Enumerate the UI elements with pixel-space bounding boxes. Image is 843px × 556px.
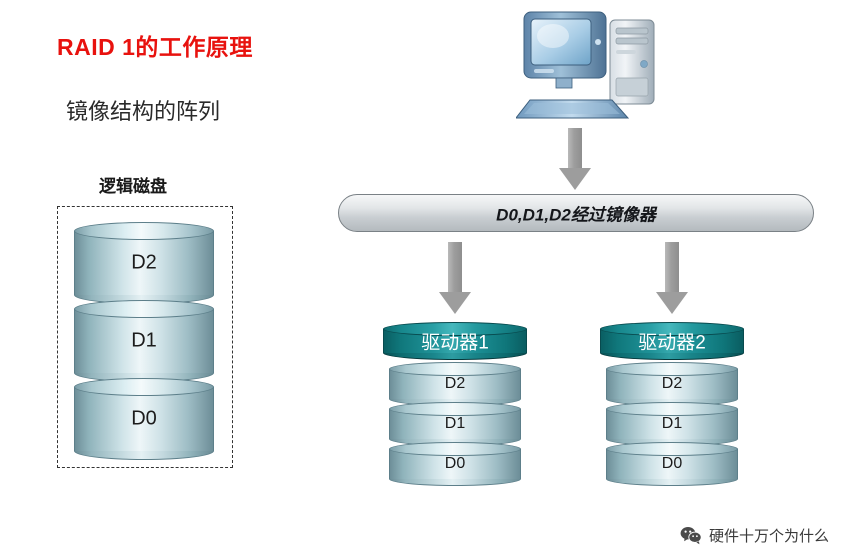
logical-disk-d0: D0 xyxy=(74,378,214,460)
drive2-block-d1-label: D1 xyxy=(606,415,738,433)
drive1-header: 驱动器1 xyxy=(383,322,527,360)
arrow-head xyxy=(439,292,471,314)
cylinder-top xyxy=(74,300,214,318)
drive2-block-d0-label: D0 xyxy=(606,455,738,473)
page-title: RAID 1的工作原理 xyxy=(57,28,253,62)
footer-watermark: 硬件十万个为什么 xyxy=(680,525,829,546)
drive2-block-d1: D1 xyxy=(606,402,738,446)
arrow-head xyxy=(559,168,591,190)
arrow-mirror-to-drive2 xyxy=(655,242,689,314)
logical-disk-d2-label: D2 xyxy=(74,252,214,275)
arrow-shaft xyxy=(448,242,462,294)
logical-disk-d1-label: D1 xyxy=(74,330,214,353)
cylinder-top xyxy=(74,222,214,240)
footer-watermark-text: 硬件十万个为什么 xyxy=(709,525,829,546)
drive1-block-d2: D2 xyxy=(389,362,521,406)
arrow-shaft xyxy=(665,242,679,294)
drive2-header-label: 驱动器2 xyxy=(600,328,744,355)
drive2-block-d0: D0 xyxy=(606,442,738,486)
cylinder-top xyxy=(389,362,521,376)
cylinder-top xyxy=(606,442,738,456)
mirror-engine-label: D0,D1,D2经过镜像器 xyxy=(339,201,813,226)
arrow-shaft xyxy=(568,128,582,170)
drive2-block-d2-label: D2 xyxy=(606,375,738,393)
arrow-mirror-to-drive1 xyxy=(438,242,472,314)
logical-disk-d1: D1 xyxy=(74,300,214,382)
slide-canvas: RAID 1的工作原理 镜像结构的阵列 逻辑磁盘 D2 D1 D0 xyxy=(0,0,843,556)
drive1-block-d0-label: D0 xyxy=(389,455,521,473)
logical-disk-label: 逻辑磁盘 xyxy=(99,172,167,197)
wechat-icon xyxy=(680,526,702,545)
logical-disk-d2: D2 xyxy=(74,222,214,304)
page-subtitle: 镜像结构的阵列 xyxy=(66,94,220,126)
cylinder-top xyxy=(74,378,214,396)
logical-disk-d0-label: D0 xyxy=(74,408,214,431)
drive1-block-d1-label: D1 xyxy=(389,415,521,433)
drive1-block-d2-label: D2 xyxy=(389,375,521,393)
drive1-block-d1: D1 xyxy=(389,402,521,446)
drive2-header: 驱动器2 xyxy=(600,322,744,360)
arrow-head xyxy=(656,292,688,314)
arrow-computer-to-mirror xyxy=(558,128,592,190)
drive1-block-d0: D0 xyxy=(389,442,521,486)
cylinder-top xyxy=(389,442,521,456)
drive2-block-d2: D2 xyxy=(606,362,738,406)
mirror-engine-bar: D0,D1,D2经过镜像器 xyxy=(338,194,814,232)
drive1-header-label: 驱动器1 xyxy=(383,328,527,355)
cylinder-top xyxy=(389,402,521,416)
desktop-computer-icon xyxy=(516,8,676,132)
cylinder-top xyxy=(606,362,738,376)
cylinder-top xyxy=(606,402,738,416)
